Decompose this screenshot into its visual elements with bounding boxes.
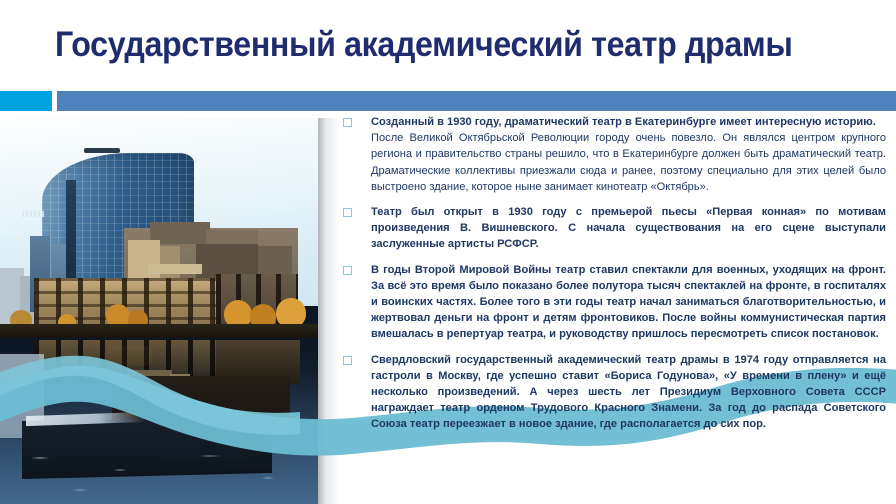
theatre-photo <box>0 118 318 504</box>
photo-scene <box>0 118 318 504</box>
body-text-column: Созданный в 1930 году, драматический теа… <box>338 114 886 433</box>
divider-accent-square <box>0 91 52 111</box>
bullet-square-icon <box>343 118 352 127</box>
bullet-square-icon <box>343 266 352 275</box>
bullet-square-icon <box>343 356 352 365</box>
paragraph-lead: Театр был открыт в 1930 году с премьерой… <box>371 206 886 250</box>
paragraph-lead: В годы Второй Мировой Войны театр ставил… <box>371 264 886 341</box>
paragraph-lead: Свердловский государственный академическ… <box>371 354 886 431</box>
bullet-paragraph: Свердловский государственный академическ… <box>338 352 886 433</box>
bullet-paragraph: В годы Второй Мировой Войны театр ставил… <box>338 262 886 343</box>
divider-bar <box>57 91 896 111</box>
bullet-square-icon <box>343 208 352 217</box>
paragraph-rest: После Великой Октябрьской Революции горо… <box>371 130 886 195</box>
water-ripples <box>0 448 318 504</box>
photo-edge-shadow <box>318 118 340 504</box>
title-divider <box>0 91 896 111</box>
tower-signage <box>22 211 46 217</box>
paragraph-lead: Созданный в 1930 году, драматический теа… <box>371 116 876 128</box>
bullet-paragraph: Созданный в 1930 году, драматический теа… <box>338 114 886 195</box>
theatre-canopy <box>148 264 202 274</box>
page-title: Государственный академический театр драм… <box>55 22 791 68</box>
tower-roof-cap <box>84 148 120 153</box>
presentation-slide: Государственный академический театр драм… <box>0 0 896 504</box>
bullet-paragraph: Театр был открыт в 1930 году с премьерой… <box>338 204 886 253</box>
